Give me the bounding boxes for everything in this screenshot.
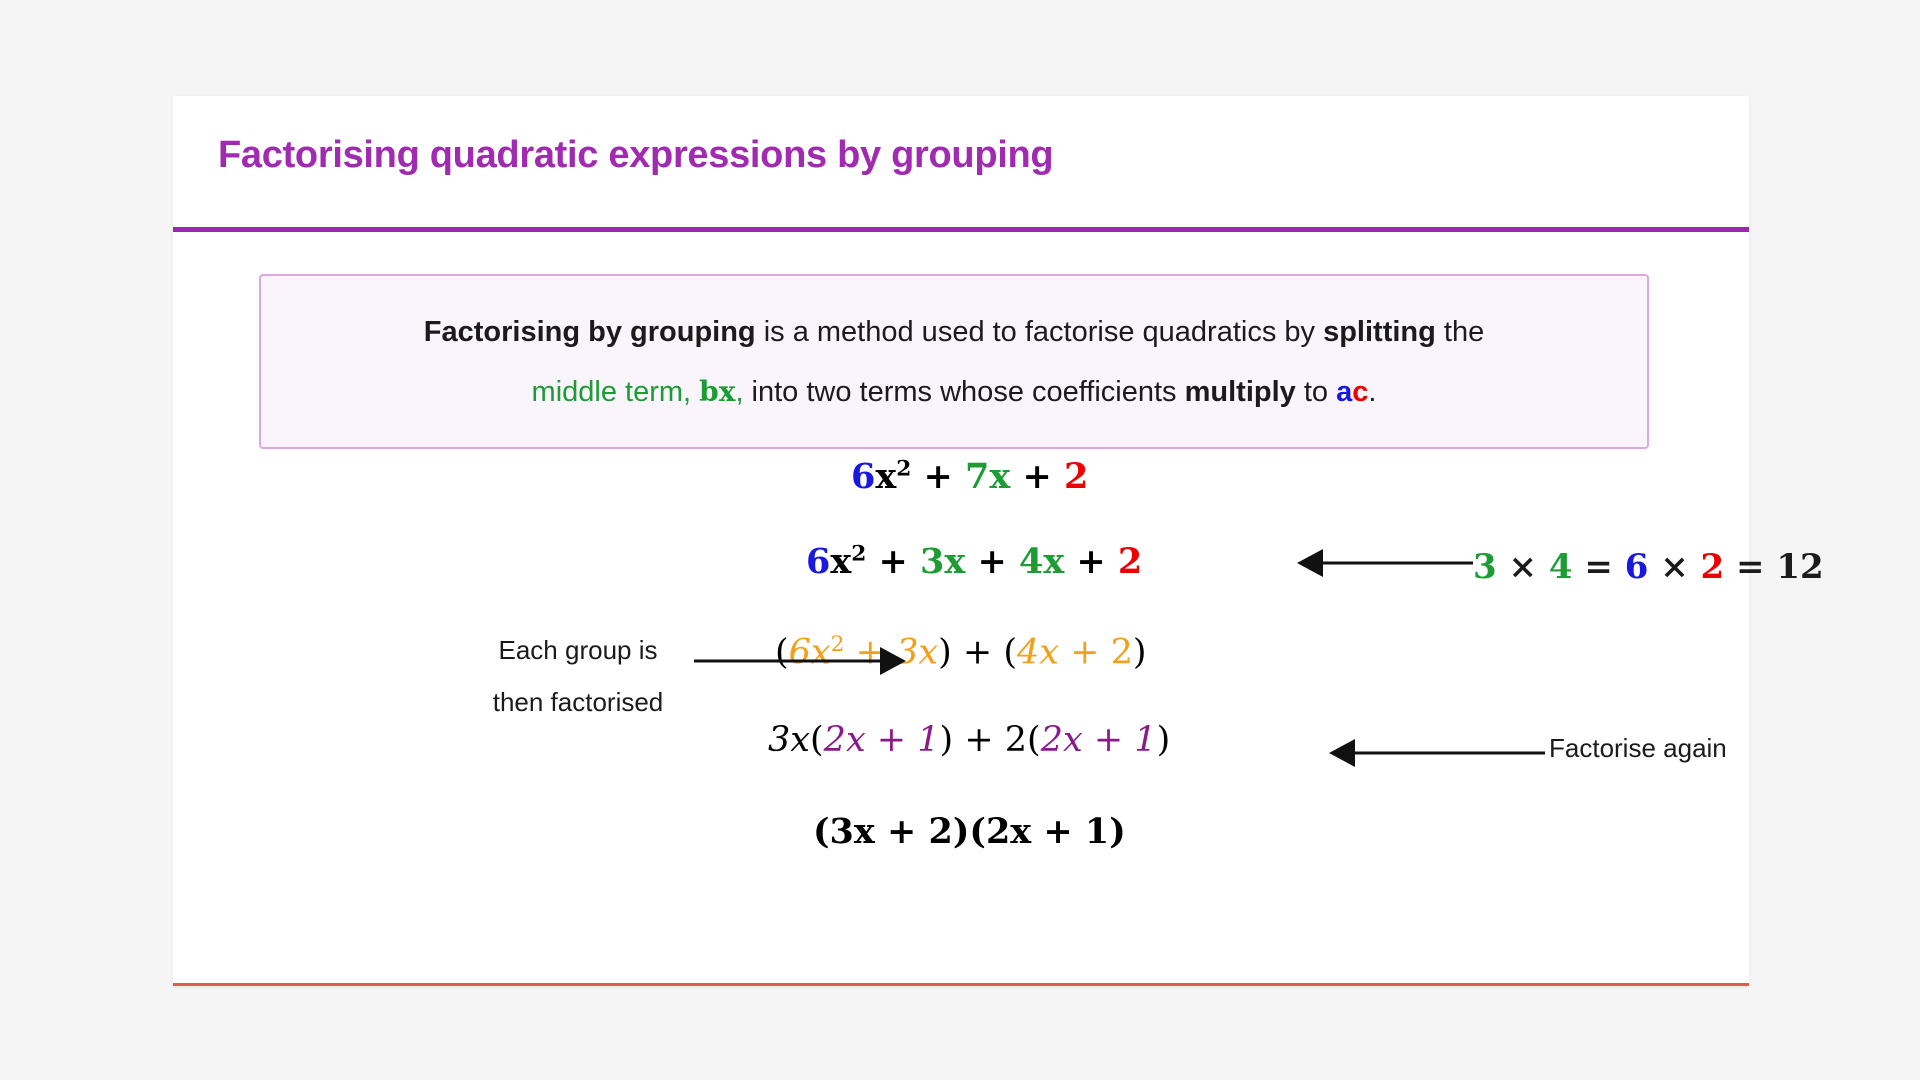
definition-multiply: multiply <box>1185 376 1296 408</box>
definition-text-b: the <box>1436 316 1484 348</box>
step1-x: x <box>875 456 896 497</box>
arrow-right-head-icon <box>880 647 906 675</box>
arrow-shaft <box>1319 562 1473 565</box>
equation-step-2: 6x2 + 3x + 4x + 2 <box>806 541 1142 582</box>
arrow-shaft <box>1351 752 1545 755</box>
annotation-factor-3: 6 <box>1625 547 1649 587</box>
definition-text-c: into two terms whose coefficients <box>744 376 1185 408</box>
definition-period: . <box>1368 376 1376 408</box>
step3-middle-plus: + <box>952 633 1004 673</box>
step3-group2-term1: 4x <box>1017 633 1059 673</box>
step4-open-paren-2: ( <box>1027 720 1041 760</box>
step-4-annotation: Factorise again <box>1549 733 1727 764</box>
step2-plus-2: + <box>965 541 1019 582</box>
definition-line-1: Factorising by grouping is a method used… <box>424 302 1484 362</box>
step2-split-term-1: 3x <box>920 541 965 582</box>
annotation-product: 12 <box>1776 547 1823 587</box>
annotation-times-1: × <box>1497 547 1549 587</box>
step4-middle-plus: + <box>953 720 1005 760</box>
worked-solution: 6x2 + 7x + 2 6x2 + 3x + 4x + 2 3 × 4 = 6… <box>173 456 1749 986</box>
definition-splitting: splitting <box>1323 316 1436 348</box>
step-3-annotation-line-1: Each group is <box>463 624 693 676</box>
definition-a: a <box>1336 376 1352 408</box>
arrow-shaft <box>694 660 884 663</box>
arrow-to-step-2 <box>1297 546 1473 580</box>
equation-step-1: 6x2 + 7x + 2 <box>851 456 1088 497</box>
step1-plus-2: + <box>1010 456 1064 497</box>
page-title: Factorising quadratic expressions by gro… <box>218 134 1053 177</box>
step2-split-term-2: 4x <box>1019 541 1064 582</box>
definition-term: Factorising by grouping <box>424 316 756 348</box>
step1-a-coefficient: 6 <box>851 456 875 497</box>
step-3-annotation: Each group is then factorised <box>463 624 693 728</box>
definition-line-2: middle term, bx, into two terms whose co… <box>532 362 1377 422</box>
step1-c-term: 2 <box>1064 456 1088 497</box>
step3-group2-term2: 2 <box>1111 633 1133 673</box>
definition-comma: , <box>735 376 743 408</box>
annotation-factor-2: 4 <box>1549 547 1573 587</box>
step2-x: x <box>830 541 851 582</box>
step2-exponent: 2 <box>851 541 866 566</box>
step1-exponent: 2 <box>896 456 911 481</box>
definition-c: c <box>1352 376 1368 408</box>
step4-close-paren-1: ) <box>940 720 954 760</box>
step2-c-term: 2 <box>1118 541 1142 582</box>
step3-close-paren-1: ) <box>938 633 952 673</box>
annotation-equals-2: = <box>1724 547 1776 587</box>
arrow-to-step-4 <box>1329 736 1545 770</box>
step2-plus-3: + <box>1064 541 1118 582</box>
annotation-factor-1: 3 <box>1473 547 1497 587</box>
annotation-equals-1: = <box>1573 547 1625 587</box>
lesson-card: Factorising quadratic expressions by gro… <box>173 96 1749 986</box>
equation-step-4: 3x(2x + 1) + 2(2x + 1) <box>768 720 1170 760</box>
step4-lead-1: 3x <box>768 720 810 760</box>
step4-open-paren-1: ( <box>810 720 824 760</box>
annotation-factor-4: 2 <box>1701 547 1725 587</box>
definition-text-a: is a method used to factorise quadratics… <box>756 316 1323 348</box>
step3-close-paren-2: ) <box>1133 633 1147 673</box>
step-3-annotation-line-2: then factorised <box>463 676 693 728</box>
step4-common-factor-2: 2x + 1 <box>1041 720 1157 760</box>
step-2-annotation: 3 × 4 = 6 × 2 = 12 <box>1473 547 1824 587</box>
definition-box: Factorising by grouping is a method used… <box>259 274 1649 449</box>
step4-lead-2: 2 <box>1005 720 1027 760</box>
definition-middle-term: middle term, <box>532 376 692 408</box>
step2-a-coefficient: 6 <box>806 541 830 582</box>
step4-common-factor-1: 2x + 1 <box>824 720 940 760</box>
definition-text-d: to <box>1296 376 1336 408</box>
step2-plus-1: + <box>866 541 920 582</box>
arrow-to-step-3 <box>694 644 906 678</box>
annotation-times-2: × <box>1648 547 1700 587</box>
step3-open-paren-2: ( <box>1003 633 1017 673</box>
definition-bx: bx <box>699 375 735 408</box>
title-divider <box>173 227 1749 232</box>
step3-group2-plus: + <box>1059 633 1111 673</box>
step1-plus-1: + <box>911 456 965 497</box>
step4-close-paren-2: ) <box>1157 720 1171 760</box>
step1-b-term: 7x <box>965 456 1010 497</box>
equation-step-5-final-answer: (3x + 2)(2x + 1) <box>813 811 1126 852</box>
